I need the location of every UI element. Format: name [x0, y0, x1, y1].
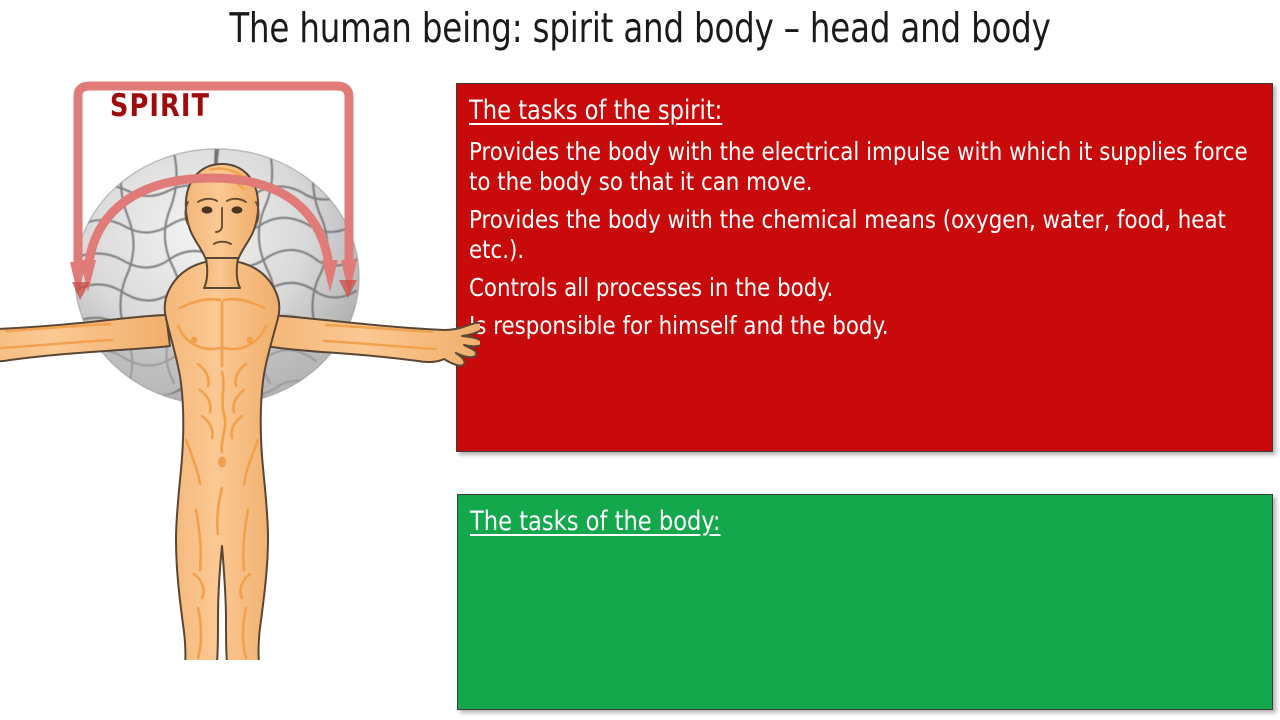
slide-canvas: The human being: spirit and body – head … [0, 0, 1280, 720]
page-title: The human being: spirit and body – head … [77, 2, 1203, 54]
spirit-tasks-heading: The tasks of the spirit: [469, 93, 722, 129]
spirit-task-item: Controls all processes in the body. [469, 273, 1258, 303]
human-body-figure [0, 140, 480, 660]
spirit-task-item: Provides the body with the electrical im… [469, 137, 1258, 197]
spirit-task-item: Provides the body with the chemical mean… [469, 205, 1258, 265]
body-tasks-box: The tasks of the body: [457, 494, 1273, 710]
body-tasks-heading: The tasks of the body: [470, 504, 721, 540]
spirit-tasks-list: Provides the body with the electrical im… [469, 137, 1260, 341]
spirit-tasks-box: The tasks of the spirit: Provides the bo… [456, 83, 1273, 452]
illustration-group: SPIRIT [0, 60, 462, 660]
spirit-label: SPIRIT [13, 88, 307, 124]
spirit-task-item: Is responsible for himself and the body. [469, 311, 1258, 341]
